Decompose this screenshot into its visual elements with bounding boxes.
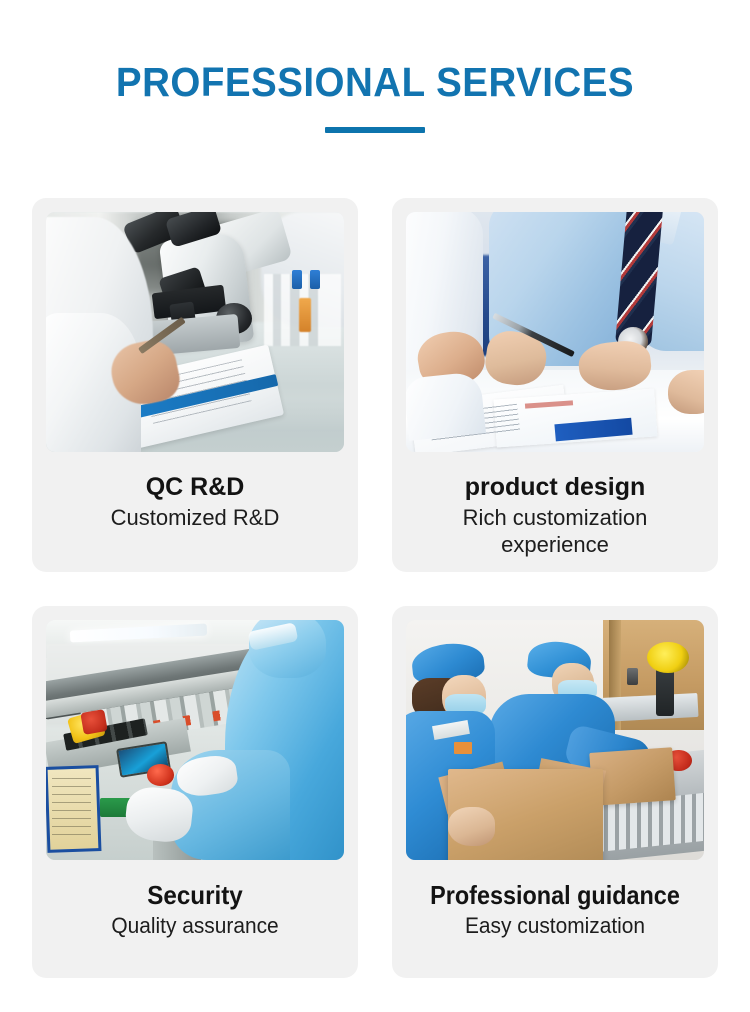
card-title: QC R&D xyxy=(46,472,344,502)
card-subtitle: Easy customization xyxy=(413,912,696,939)
packaging-line-photo xyxy=(406,620,704,860)
service-card-qc-rd[interactable]: QC R&D Customized R&D xyxy=(32,198,358,572)
page-header: PROFESSIONAL SERVICES xyxy=(0,0,750,133)
card-title: Professional guidance xyxy=(421,880,689,910)
title-underline-rule xyxy=(325,127,425,133)
business-meeting-photo xyxy=(406,212,704,452)
card-text-block: Professional guidance Easy customization xyxy=(406,860,704,939)
service-card-security[interactable]: Security Quality assurance xyxy=(32,606,358,978)
card-title: product design xyxy=(406,472,704,502)
card-subtitle: Customized R&D xyxy=(46,504,344,531)
card-text-block: QC R&D Customized R&D xyxy=(46,452,344,531)
lab-microscope-photo xyxy=(46,212,344,452)
card-subtitle: Rich customization experience xyxy=(406,504,704,558)
cleanroom-production-photo xyxy=(46,620,344,860)
page-title: PROFESSIONAL SERVICES xyxy=(23,58,728,106)
card-title: Security xyxy=(56,880,333,910)
card-text-block: Security Quality assurance xyxy=(46,860,344,939)
card-subtitle: Quality assurance xyxy=(53,912,336,939)
service-card-product-design[interactable]: product design Rich customization experi… xyxy=(392,198,718,572)
service-card-professional-guidance[interactable]: Professional guidance Easy customization xyxy=(392,606,718,978)
services-card-grid: QC R&D Customized R&D xyxy=(32,198,718,978)
card-text-block: product design Rich customization experi… xyxy=(406,452,704,558)
